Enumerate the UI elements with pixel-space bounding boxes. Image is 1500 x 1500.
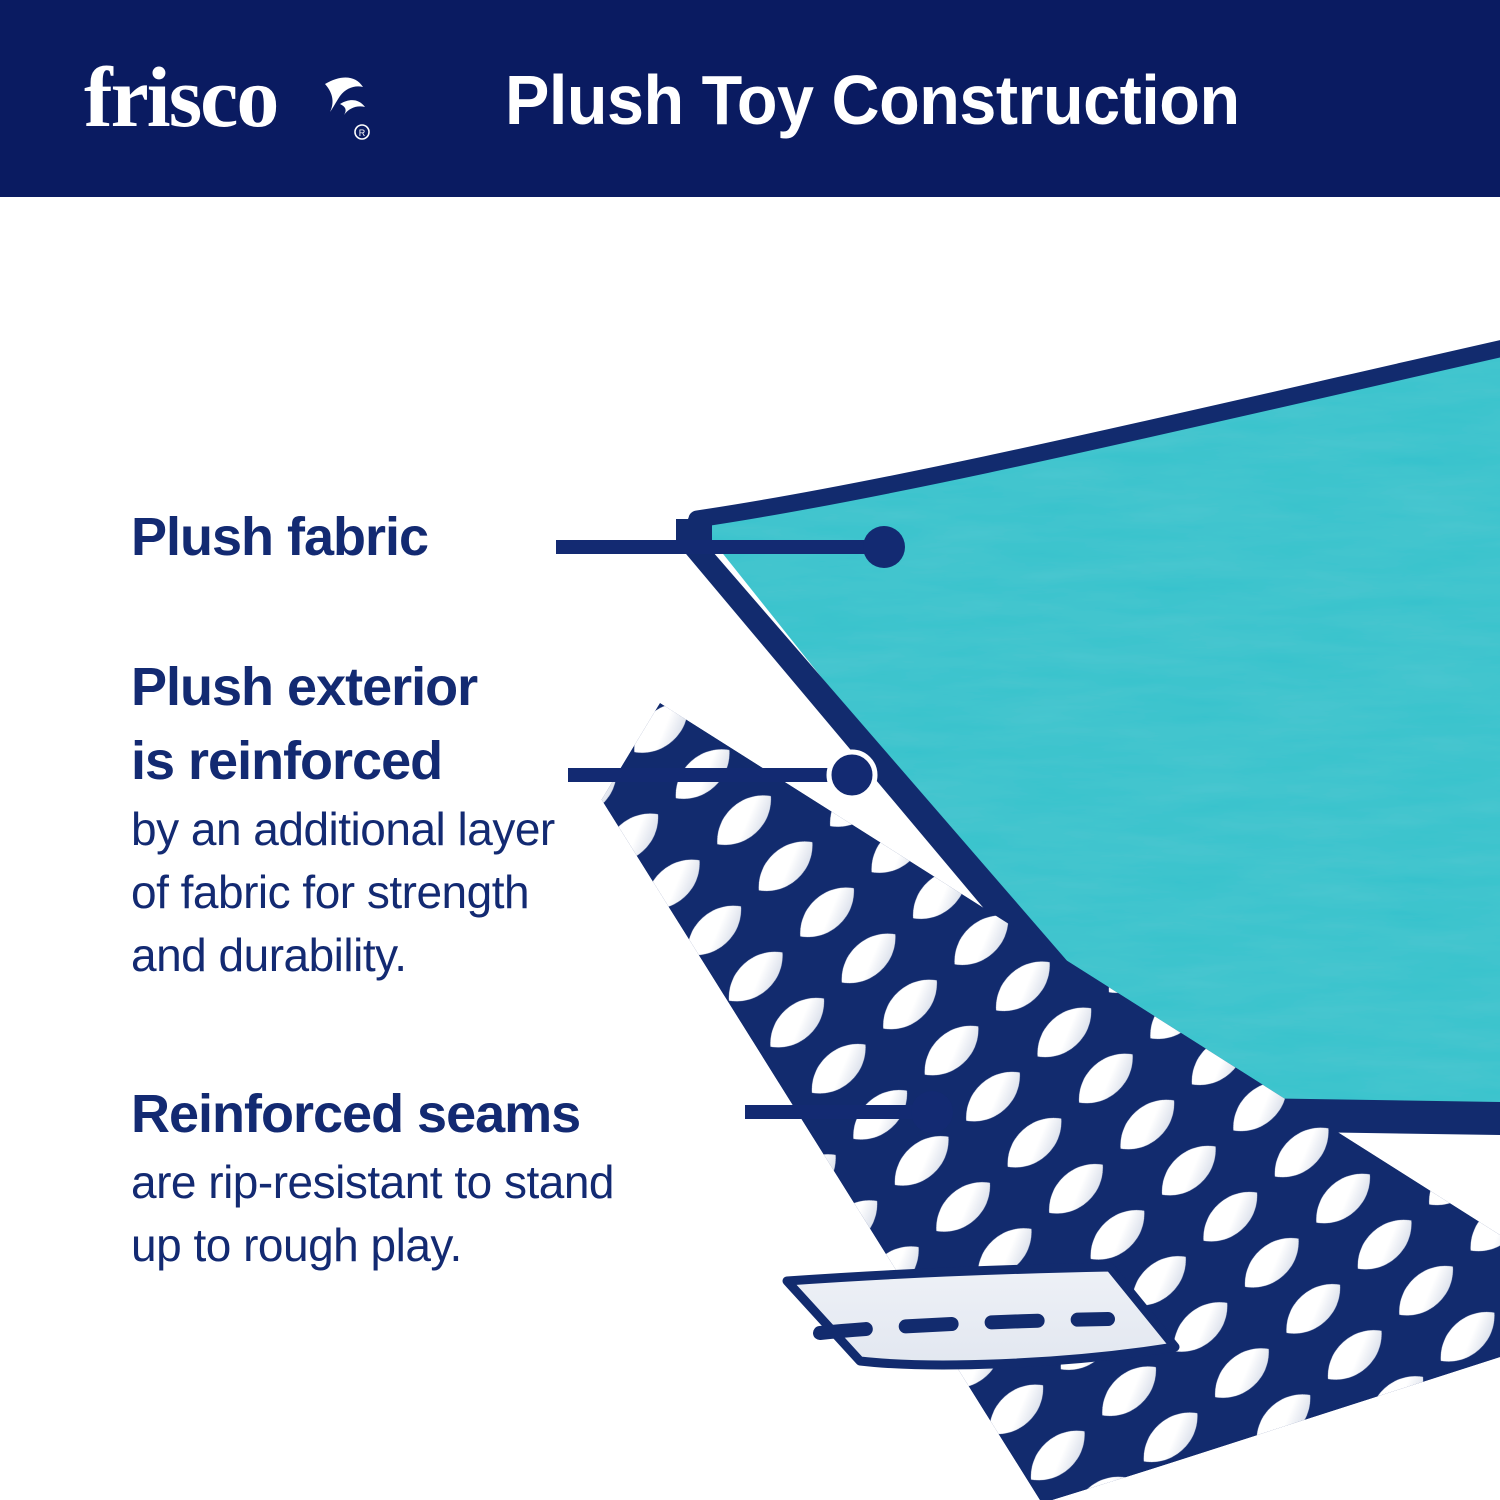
leader-dot-plush-exterior [829,752,875,798]
callout-reinforced-seams-lead: Reinforced seams [131,1077,614,1151]
callout-reinforced-seams-body: are rip-resistant to stand up to rough p… [131,1151,614,1277]
header-bar: frisco R Plush Toy Construction [0,0,1500,197]
leader-dot-reinforced-seams [911,1091,953,1133]
plush-fabric-corner-stub [676,519,712,542]
callout-plush-exterior-body: by an additional layer of fabric for str… [131,798,555,987]
frisco-wordmark-icon: frisco R [84,50,384,150]
callout-plush-fabric: Plush fabric [131,500,428,574]
page-title: Plush Toy Construction [505,50,1360,150]
frisco-logo: frisco R [84,50,384,150]
svg-text:R: R [359,128,366,138]
seam-flap-layer [787,1267,1175,1365]
svg-text:frisco: frisco [84,50,277,145]
callout-plush-exterior: Plush exterior is reinforced by an addit… [131,650,555,987]
callout-reinforced-seams: Reinforced seams are rip-resistant to st… [131,1077,614,1277]
callout-plush-exterior-lead: Plush exterior is reinforced [131,650,555,798]
leader-dot-plush-fabric [863,526,905,568]
infographic-page: frisco R Plush Toy Construction [0,0,1500,1500]
callout-plush-fabric-lead: Plush fabric [131,500,428,574]
seam-flap-shape [787,1267,1175,1365]
